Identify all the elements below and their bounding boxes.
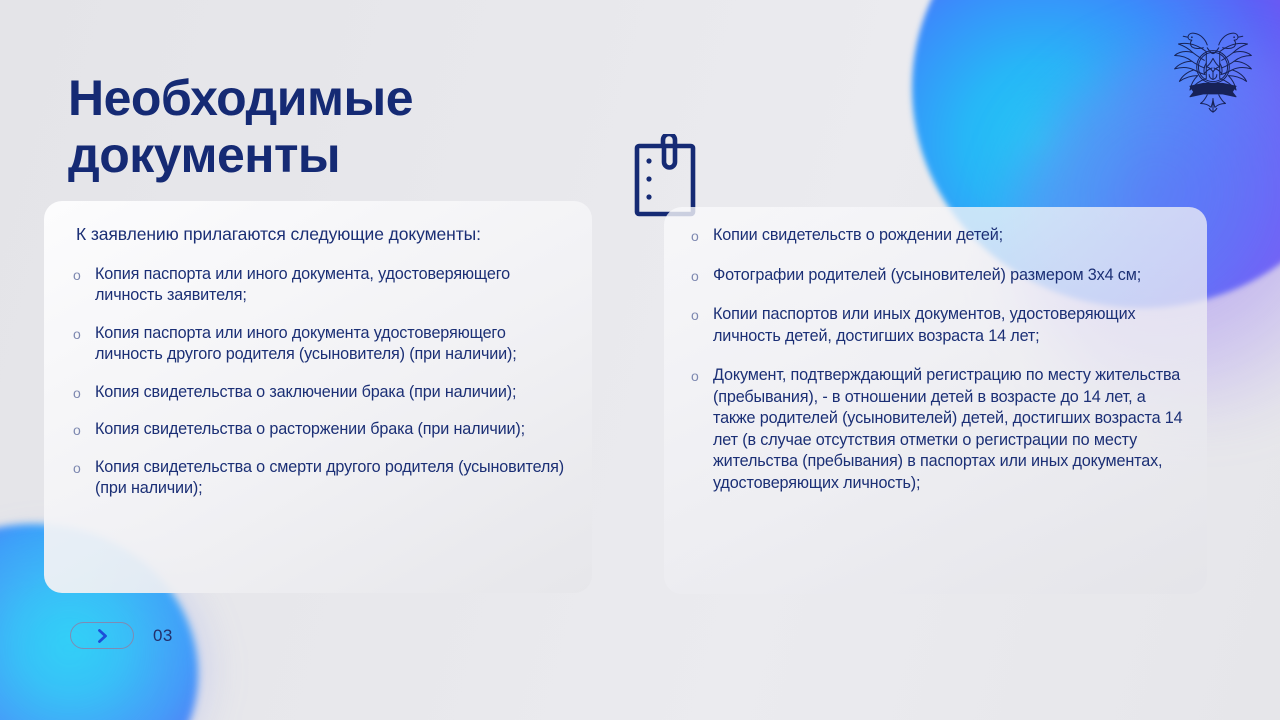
- document-list-right: o Копии свидетельств о рождении детей; o…: [682, 225, 1185, 494]
- list-item-label: Копии паспортов или иных документов, удо…: [713, 305, 1135, 345]
- list-item: o Копия свидетельства о заключении брака…: [64, 382, 566, 404]
- list-item: o Фотографии родителей (усыновителей) ра…: [682, 265, 1185, 287]
- list-item: o Копия паспорта или иного документа удо…: [64, 323, 566, 366]
- list-item-label: Фотографии родителей (усыновителей) разм…: [713, 266, 1141, 284]
- list-item: o Копия свидетельства о смерти другого р…: [64, 457, 566, 500]
- bullet-marker-icon: o: [691, 366, 699, 386]
- list-item: o Копии свидетельств о рождении детей;: [682, 225, 1185, 247]
- bullet-marker-icon: o: [73, 458, 81, 478]
- chevron-right-icon: [95, 628, 110, 644]
- bullet-marker-icon: o: [691, 305, 699, 325]
- list-item: o Документ, подтверждающий регистрацию п…: [682, 365, 1185, 494]
- documents-card-right: o Копии свидетельств о рождении детей; o…: [664, 207, 1207, 594]
- list-item-label: Копия свидетельства о заключении брака (…: [95, 383, 516, 401]
- list-item-label: Копии свидетельств о рождении детей;: [713, 226, 1003, 244]
- clipboard-icon: [633, 134, 697, 218]
- bullet-marker-icon: o: [73, 383, 81, 403]
- slide-canvas: Необходимые документы К заявлению прилаг…: [0, 0, 1280, 720]
- footer-navigation: 03: [70, 622, 173, 649]
- page-number: 03: [153, 626, 173, 646]
- page-title: Необходимые документы: [68, 70, 628, 184]
- bullet-marker-icon: o: [73, 324, 81, 344]
- list-item-label: Документ, подтверждающий регистрацию по …: [713, 366, 1183, 492]
- list-item: o Копия паспорта или иного документа, уд…: [64, 264, 566, 307]
- bullet-marker-icon: o: [691, 266, 699, 286]
- list-item: o Копии паспортов или иных документов, у…: [682, 304, 1185, 347]
- list-item-label: Копия паспорта или иного документа удост…: [95, 324, 517, 364]
- document-list-left: o Копия паспорта или иного документа, уд…: [64, 264, 566, 500]
- list-item-label: Копия паспорта или иного документа, удос…: [95, 265, 510, 305]
- bullet-marker-icon: o: [73, 420, 81, 440]
- next-slide-button[interactable]: [70, 622, 134, 649]
- bullet-marker-icon: o: [691, 226, 699, 246]
- list-item-label: Копия свидетельства о расторжении брака …: [95, 420, 525, 438]
- documents-card-left: К заявлению прилагаются следующие докуме…: [44, 201, 592, 593]
- list-intro-text: К заявлению прилагаются следующие докуме…: [76, 223, 566, 247]
- list-item: o Копия свидетельства о расторжении брак…: [64, 419, 566, 441]
- bullet-marker-icon: o: [73, 265, 81, 285]
- double-headed-eagle-emblem-icon: [1165, 18, 1261, 116]
- list-item-label: Копия свидетельства о смерти другого род…: [95, 458, 564, 498]
